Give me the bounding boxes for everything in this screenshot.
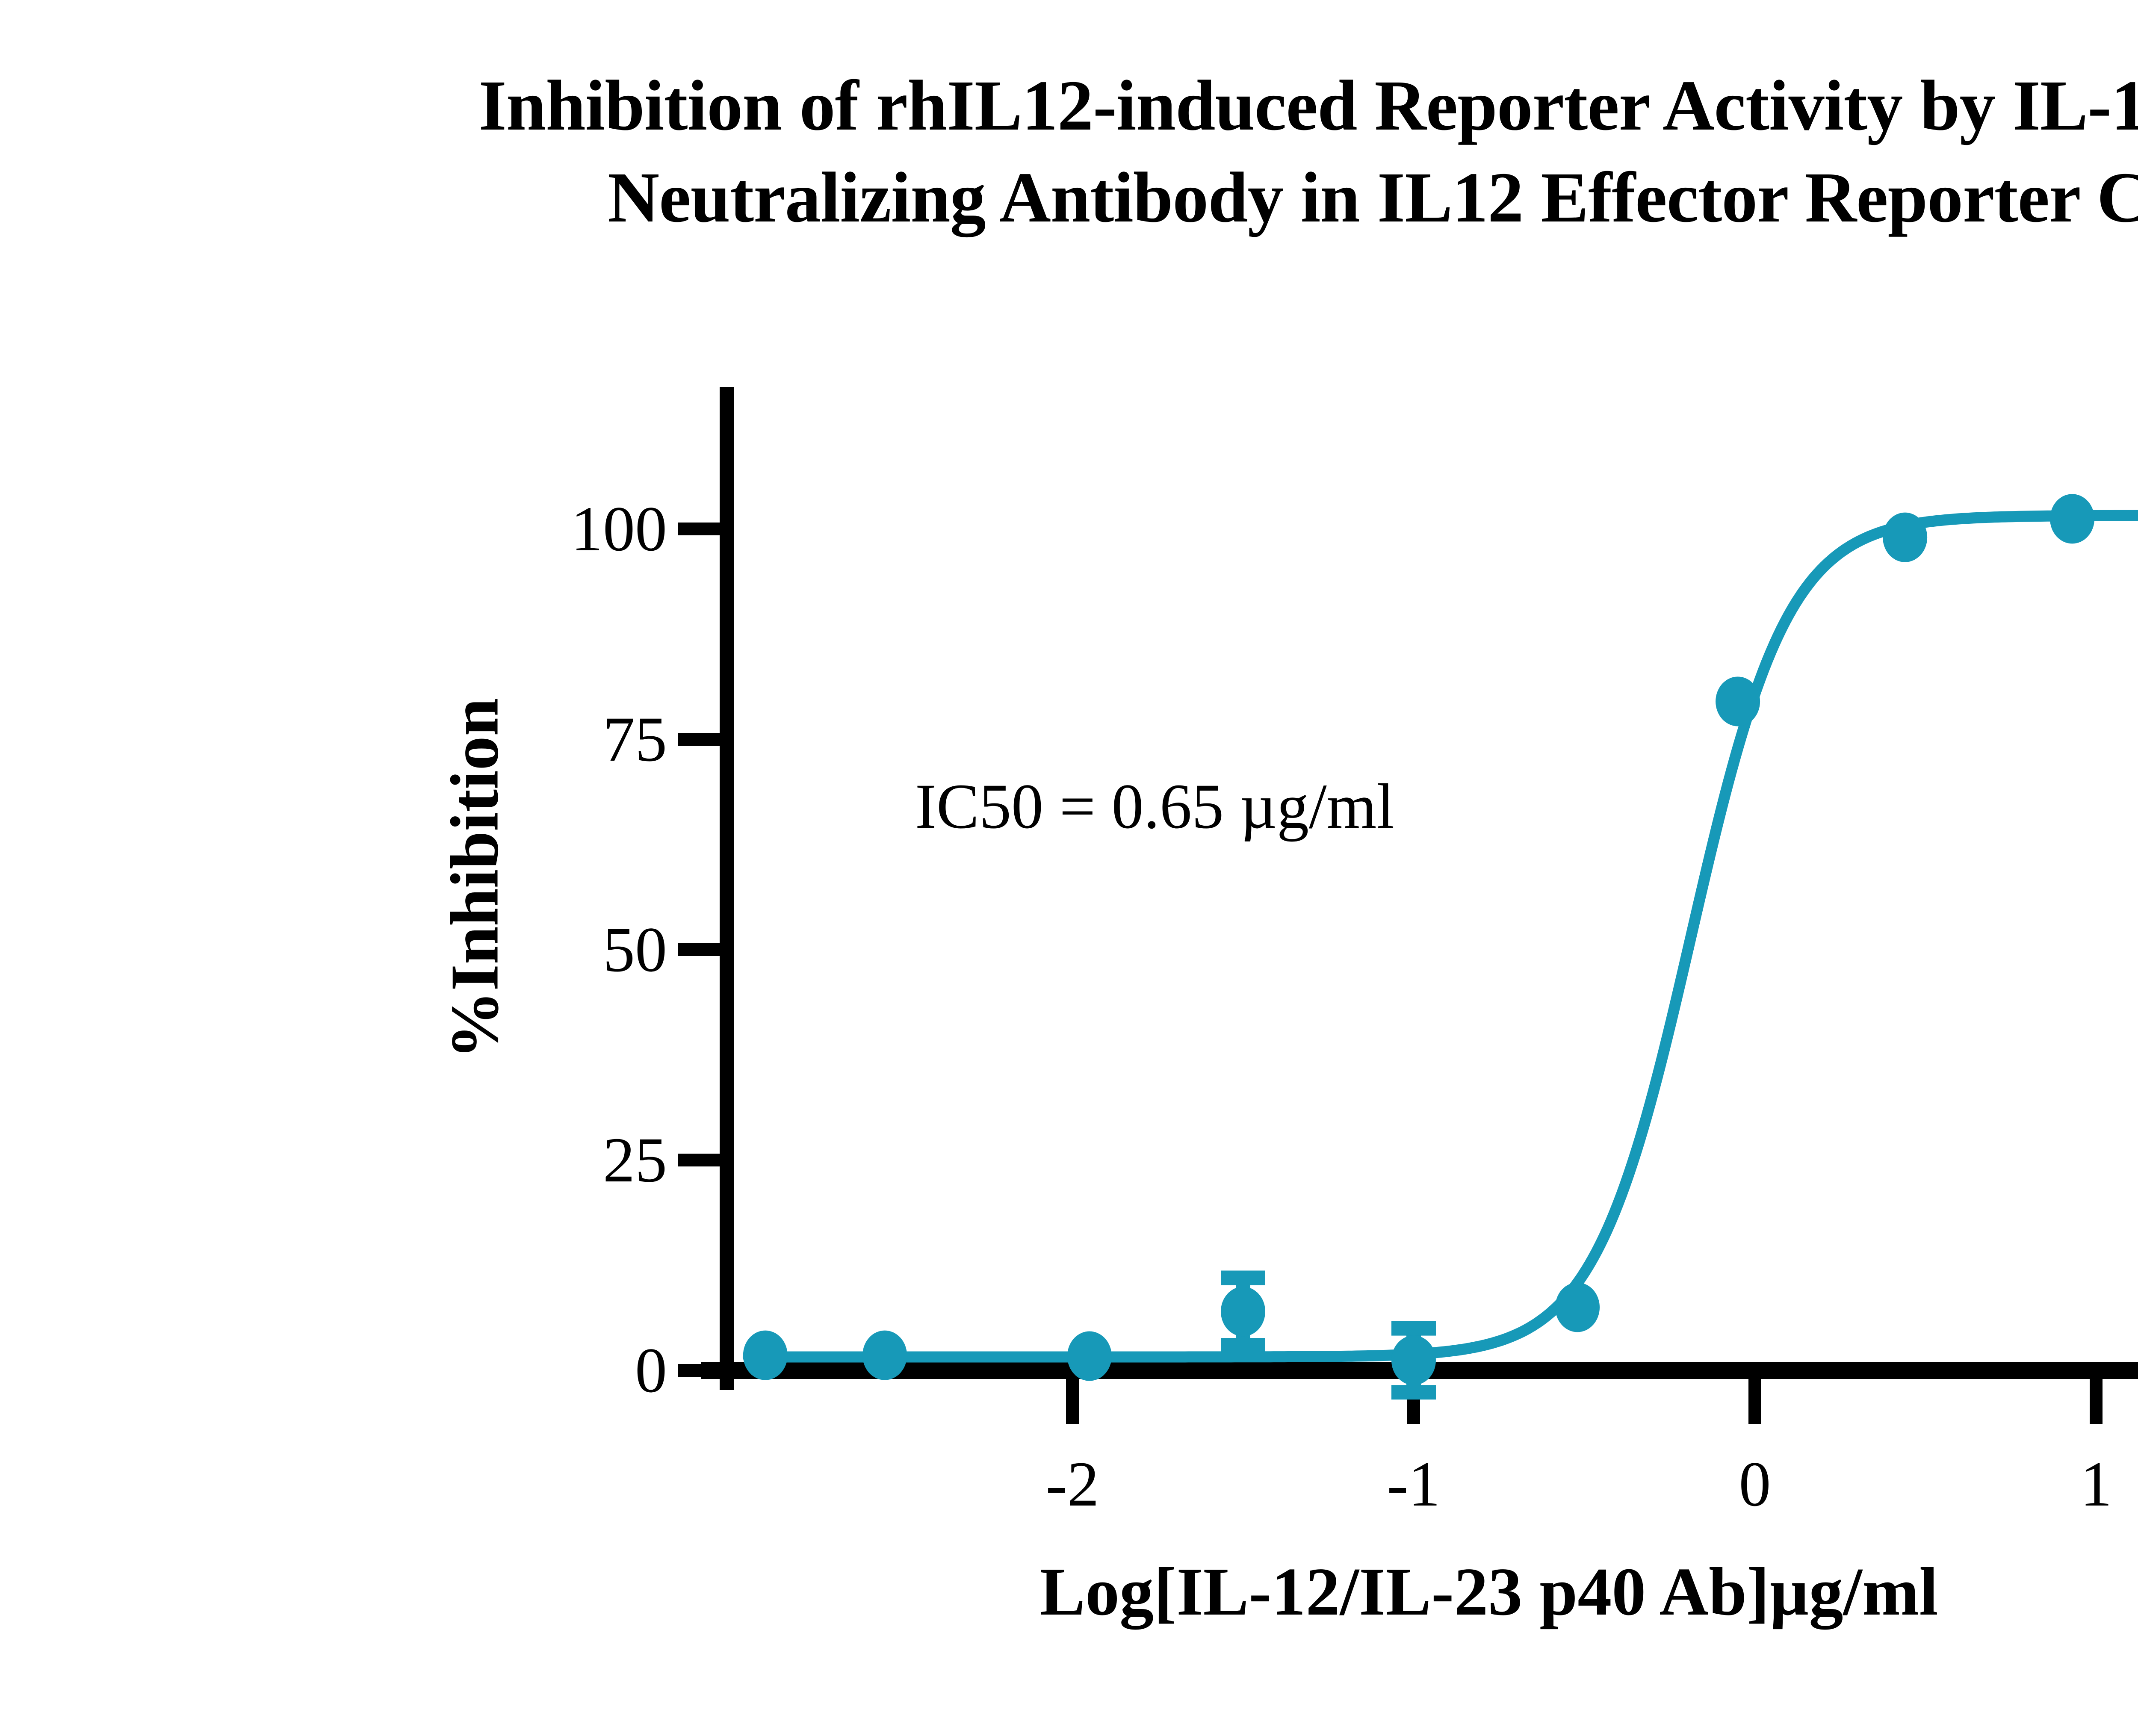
- data-point: [1067, 1332, 1112, 1381]
- data-point: [1555, 1282, 1600, 1332]
- x-tick-label: 1: [2080, 1447, 2112, 1521]
- data-point: [862, 1331, 907, 1380]
- fit-curve-group: [748, 516, 2138, 1357]
- data-points-group: [743, 491, 2138, 1385]
- data-point: [743, 1331, 788, 1380]
- data-point: [1391, 1335, 1436, 1385]
- data-point: [1716, 676, 1760, 726]
- fit-curve: [748, 516, 2138, 1357]
- data-point: [2050, 494, 2094, 543]
- plot-area: 0255075100 -2-101 %Inhibition Log[IL-12/…: [0, 0, 2138, 1736]
- x-tick-label: -1: [1387, 1447, 1441, 1521]
- data-point: [1221, 1287, 1265, 1336]
- y-axis-title: %Inhibition: [435, 698, 514, 1060]
- x-axis-title: Log[IL-12/IL-23 p40 Ab]µg/ml: [0, 1552, 2138, 1631]
- ic50-annotation: IC50 = 0.65 µg/ml: [915, 770, 1394, 843]
- y-tick-label: 25: [257, 1123, 667, 1197]
- figure-root: Inhibition of rhIL12-induced Reporter Ac…: [0, 0, 2138, 1736]
- x-tick-label: -2: [1046, 1447, 1099, 1521]
- x-tick-label: 0: [1739, 1447, 1771, 1521]
- y-tick-label: 100: [257, 492, 667, 566]
- y-tick-label: 0: [257, 1334, 667, 1407]
- data-point: [1883, 513, 1927, 562]
